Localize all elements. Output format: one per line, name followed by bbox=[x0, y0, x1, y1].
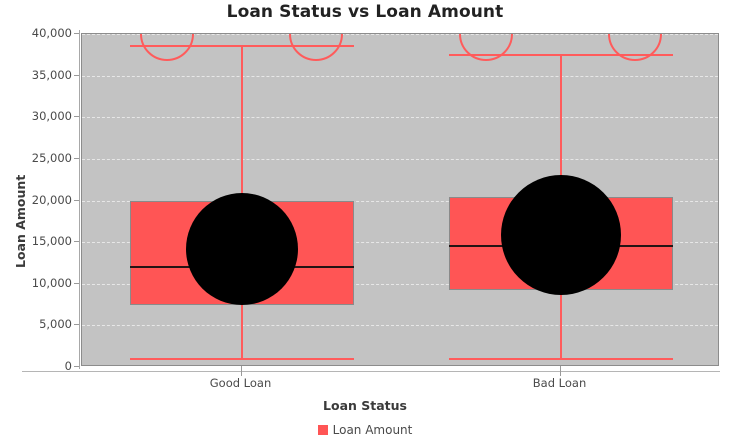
y-tick-mark bbox=[74, 283, 79, 284]
x-tick-mark bbox=[560, 366, 561, 376]
chart-title: Loan Status vs Loan Amount bbox=[0, 2, 730, 22]
gridline bbox=[82, 159, 718, 161]
y-tick-label: 35,000 bbox=[6, 68, 72, 82]
y-tick-mark bbox=[74, 33, 79, 34]
y-tick-label: 0 bbox=[6, 359, 72, 373]
mean-marker[interactable] bbox=[501, 175, 621, 295]
y-tick-mark bbox=[74, 324, 79, 325]
y-tick-mark bbox=[74, 366, 79, 367]
whisker-cap-lower bbox=[449, 358, 673, 360]
y-tick-label: 25,000 bbox=[6, 151, 72, 165]
y-tick-mark bbox=[74, 158, 79, 159]
y-axis-line bbox=[79, 30, 80, 369]
legend-label-loan-amount: Loan Amount bbox=[333, 424, 413, 436]
y-tick-label: 15,000 bbox=[6, 234, 72, 248]
gridline bbox=[82, 325, 718, 327]
y-tick-mark bbox=[74, 241, 79, 242]
x-tick-label: Good Loan bbox=[210, 376, 272, 390]
x-tick-mark bbox=[241, 366, 242, 376]
plot-area bbox=[81, 33, 719, 366]
outlier-point[interactable] bbox=[289, 33, 343, 61]
mean-marker[interactable] bbox=[186, 193, 298, 305]
outlier-point[interactable] bbox=[608, 33, 662, 61]
outlier-point[interactable] bbox=[140, 33, 194, 61]
chart-legend: Loan Amount bbox=[0, 424, 730, 436]
whisker-cap-lower bbox=[130, 358, 354, 360]
gridline bbox=[82, 117, 718, 119]
y-tick-label: 30,000 bbox=[6, 109, 72, 123]
box-plot-chart: Loan Status vs Loan Amount Loan Amount L… bbox=[0, 0, 730, 443]
y-tick-label: 20,000 bbox=[6, 193, 72, 207]
x-axis-line bbox=[22, 371, 720, 372]
y-tick-mark bbox=[74, 116, 79, 117]
outlier-point[interactable] bbox=[459, 33, 513, 61]
y-tick-mark bbox=[74, 75, 79, 76]
legend-swatch-loan-amount bbox=[318, 425, 328, 435]
y-tick-mark bbox=[74, 200, 79, 201]
y-tick-label: 5,000 bbox=[6, 317, 72, 331]
y-tick-label: 40,000 bbox=[6, 26, 72, 40]
gridline bbox=[82, 76, 718, 78]
y-tick-label: 10,000 bbox=[6, 276, 72, 290]
x-tick-label: Bad Loan bbox=[533, 376, 586, 390]
x-axis-title: Loan Status bbox=[0, 398, 730, 413]
y-axis-tick-labels: 05,00010,00015,00020,00025,00030,00035,0… bbox=[0, 33, 72, 366]
